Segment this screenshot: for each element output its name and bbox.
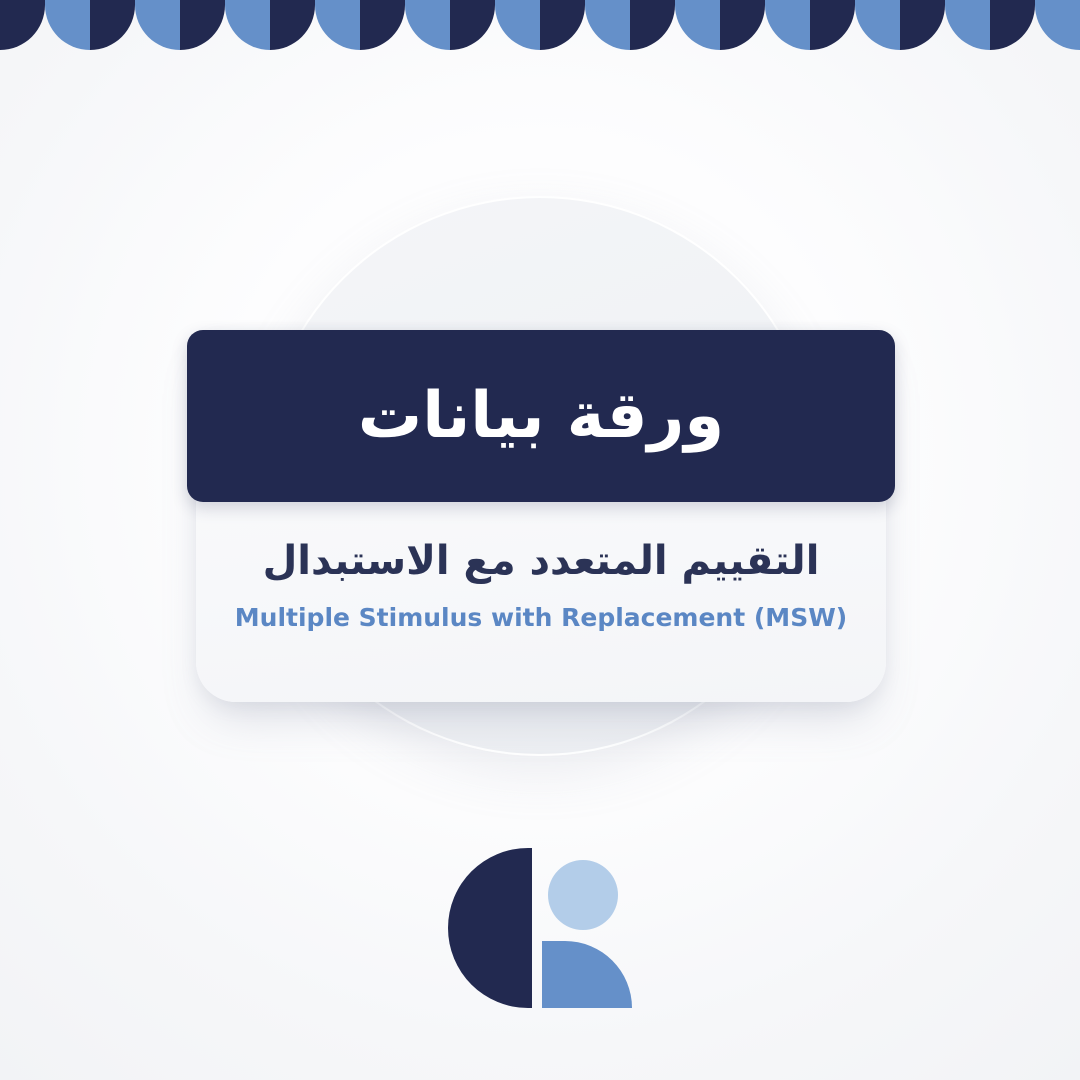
scallop-tile	[495, 0, 540, 50]
poster-stage: ورقة بيانات التقييم المتعدد مع الاستبدال…	[0, 0, 1080, 1080]
scallop-tile	[315, 0, 360, 50]
scallop-tile	[450, 0, 495, 50]
scallop-tile	[225, 0, 270, 50]
scallop-tile	[270, 0, 315, 50]
scallop-tile	[405, 0, 450, 50]
scallop-tile	[180, 0, 225, 50]
logo-body-dome	[542, 941, 632, 1008]
scallop-tile	[1035, 0, 1080, 50]
scallop-tile	[990, 0, 1035, 50]
scallop-tile	[855, 0, 900, 50]
scallop-tile	[45, 0, 90, 50]
person-mark-logo	[442, 848, 638, 1008]
card-header-title: ورقة بيانات	[358, 381, 724, 451]
scallop-tile	[630, 0, 675, 50]
logo-petal-shape	[448, 848, 532, 1008]
scallop-tile	[540, 0, 585, 50]
scallop-tile	[900, 0, 945, 50]
scallop-tile	[720, 0, 765, 50]
card-title-arabic: التقييم المتعدد مع الاستبدال	[263, 536, 820, 586]
scallop-tile	[585, 0, 630, 50]
scallop-tile	[360, 0, 405, 50]
scallop-tile	[945, 0, 990, 50]
logo-head-circle	[548, 860, 618, 930]
scallop-tile	[675, 0, 720, 50]
card-body: التقييم المتعدد مع الاستبدال Multiple St…	[196, 502, 886, 702]
scallop-tile	[135, 0, 180, 50]
info-card: ورقة بيانات التقييم المتعدد مع الاستبدال…	[196, 330, 886, 702]
card-header: ورقة بيانات	[187, 330, 895, 502]
card-title-english: Multiple Stimulus with Replacement (MSW)	[235, 602, 847, 633]
scallop-tile	[0, 0, 45, 50]
scallop-pattern-band	[0, 0, 1080, 50]
scallop-tile	[90, 0, 135, 50]
scallop-tile	[765, 0, 810, 50]
scallop-tile	[810, 0, 855, 50]
